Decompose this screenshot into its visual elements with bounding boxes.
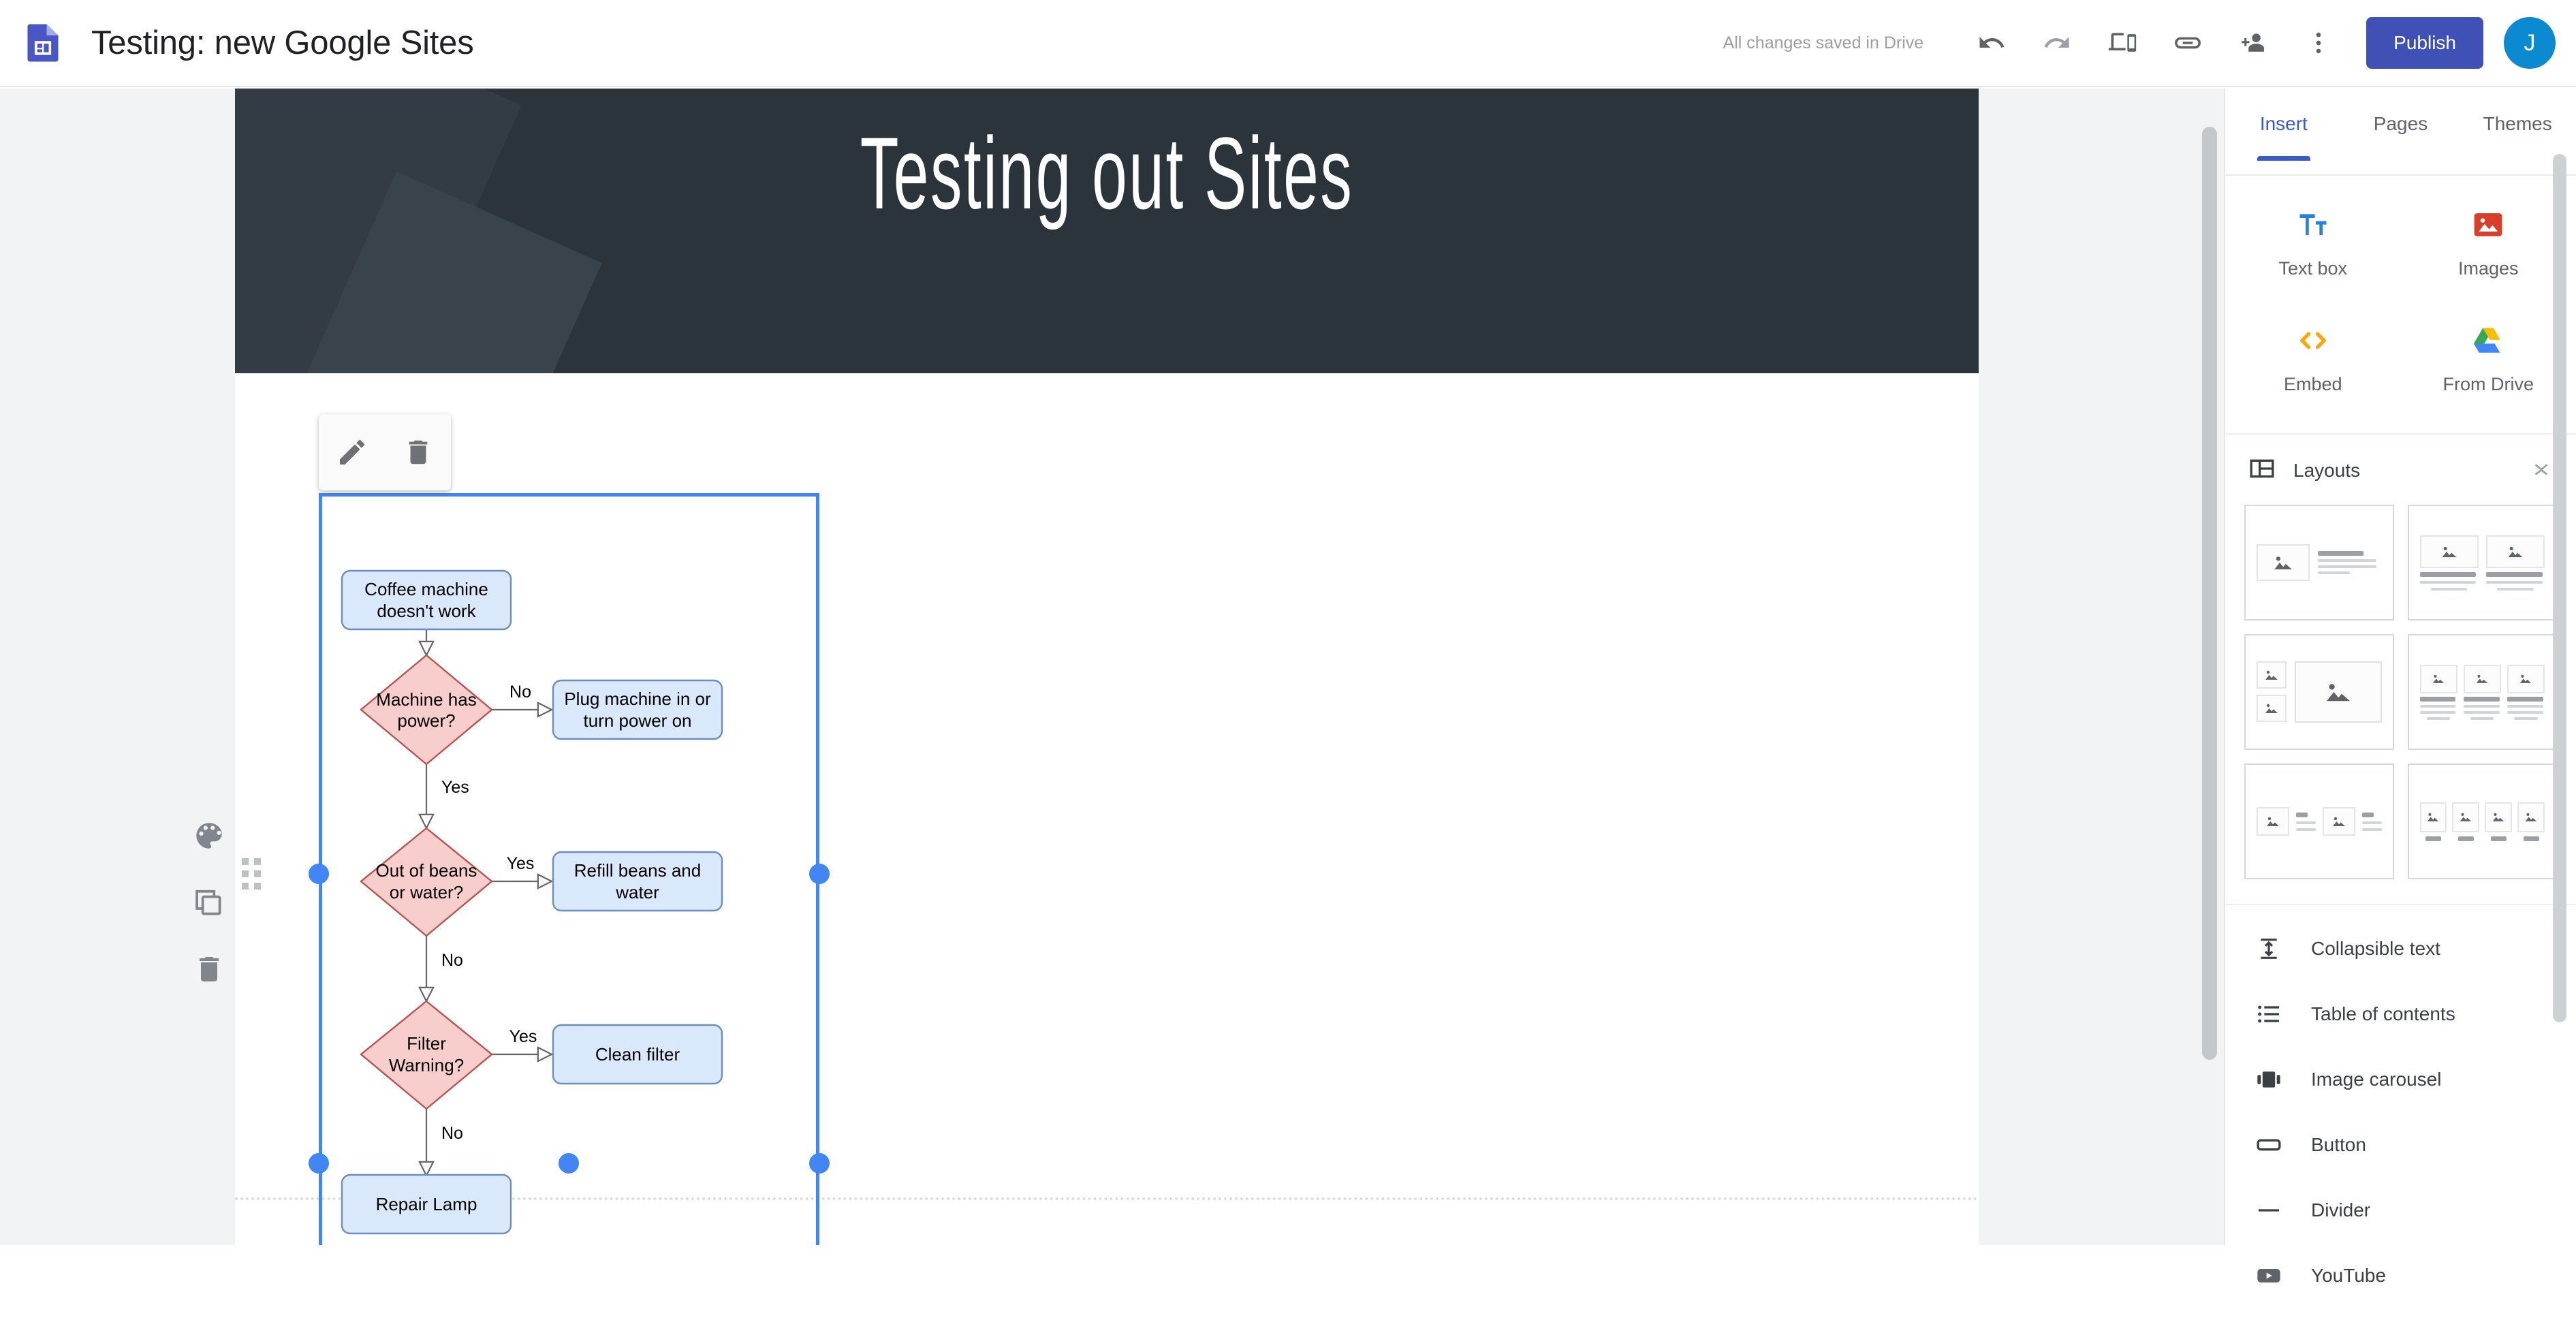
drag-handle-icon[interactable] [242, 858, 266, 896]
site-canvas: Testing out Sites [0, 89, 2224, 1245]
text-box-icon [2295, 207, 2331, 246]
svg-text:Repair Lamp: Repair Lamp [376, 1194, 477, 1214]
layouts-grid [2225, 498, 2576, 905]
publish-button[interactable]: Publish [2366, 17, 2483, 69]
edge-label-yes: Yes [441, 778, 469, 797]
insert-table-of-contents-label: Table of contents [2311, 1003, 2455, 1025]
google-sites-icon[interactable] [20, 20, 65, 65]
svg-text:Clean filter: Clean filter [595, 1044, 680, 1065]
insert-from-drive[interactable]: From Drive [2401, 315, 2576, 403]
flow-node-refill: Refill beans and water [553, 852, 722, 911]
layouts-title: Layouts [2293, 460, 2512, 482]
insert-images-label: Images [2458, 258, 2519, 279]
section-tools [185, 814, 233, 991]
svg-text:water: water [615, 882, 659, 902]
svg-text:Refill beans and: Refill beans and [574, 860, 701, 881]
flow-node-filter: Filter Warning? [361, 1001, 492, 1109]
insert-youtube-label: YouTube [2311, 1265, 2386, 1287]
canvas-scrollbar[interactable] [2202, 127, 2217, 1060]
resize-handle-bottomright[interactable] [809, 1153, 830, 1174]
svg-text:or water?: or water? [390, 882, 463, 902]
tab-pages[interactable]: Pages [2342, 113, 2460, 159]
insert-youtube[interactable]: YouTube [2225, 1243, 2576, 1308]
insert-collapsible-text-label: Collapsible text [2311, 938, 2440, 960]
edge-label-no: No [441, 1124, 463, 1143]
layout-option-image-text[interactable] [2244, 505, 2394, 620]
layout-option-two-small-one-large[interactable] [2244, 634, 2394, 750]
save-status: All changes saved in Drive [1723, 33, 1924, 53]
sidebar-tabs: Insert Pages Themes [2225, 89, 2576, 176]
collapsible-text-icon [2252, 935, 2285, 962]
tab-insert[interactable]: Insert [2225, 113, 2342, 159]
page-banner[interactable]: Testing out Sites [235, 89, 1979, 373]
svg-text:Warning?: Warning? [389, 1055, 464, 1075]
trash-icon[interactable] [396, 430, 440, 474]
topbar-actions: All changes saved in Drive [1723, 0, 2576, 86]
insert-text-box-label: Text box [2278, 258, 2347, 279]
svg-text:Plug machine in or: Plug machine in or [564, 689, 711, 709]
button-icon [2252, 1131, 2285, 1159]
insert-sidebar: Insert Pages Themes Text box Images [2224, 89, 2576, 1245]
flow-node-beans: Out of beans or water? [361, 828, 492, 936]
flow-node-power: Machine has power? [361, 655, 492, 764]
tab-themes[interactable]: Themes [2459, 113, 2576, 159]
insert-embed[interactable]: Embed [2225, 315, 2401, 403]
resize-handle-bottomleft[interactable] [309, 1153, 329, 1174]
svg-text:doesn't work: doesn't work [377, 601, 476, 621]
flow-node-plug: Plug machine in or turn power on [553, 680, 722, 739]
duplicate-icon[interactable] [187, 881, 231, 924]
insert-button[interactable]: Button [2225, 1112, 2576, 1178]
chevron-collapse-icon[interactable] [2530, 457, 2553, 484]
layouts-icon [2248, 455, 2276, 486]
link-icon[interactable] [2155, 10, 2220, 76]
undo-icon[interactable] [1959, 10, 2024, 76]
add-person-icon[interactable] [2220, 10, 2286, 76]
insert-table-of-contents[interactable]: Table of contents [2225, 981, 2576, 1047]
insert-image-carousel-label: Image carousel [2311, 1069, 2441, 1090]
flow-node-start: Coffee machine doesn't work [342, 571, 511, 629]
insert-divider-label: Divider [2311, 1199, 2370, 1221]
google-drive-icon [2470, 323, 2506, 362]
insert-images[interactable]: Images [2401, 199, 2576, 287]
embed-code-icon [2295, 323, 2331, 362]
divider-icon [2252, 1197, 2285, 1224]
resize-handle-bottom[interactable] [559, 1153, 579, 1174]
layout-option-two-inline-text[interactable] [2244, 764, 2394, 879]
table-of-contents-icon [2252, 1001, 2285, 1028]
insert-from-drive-label: From Drive [2443, 374, 2534, 395]
insert-components-list: Collapsible text Table of contents I [2225, 905, 2576, 1322]
svg-text:Machine has: Machine has [376, 689, 476, 710]
redo-icon[interactable] [2024, 10, 2090, 76]
resize-handle-right[interactable] [809, 864, 830, 884]
layout-option-four-thumbnails[interactable] [2408, 764, 2558, 879]
flow-node-repair: Repair Lamp [342, 1175, 511, 1233]
insert-quick-actions: Text box Images Embed [2225, 176, 2576, 435]
document-title[interactable]: Testing: new Google Sites [91, 24, 474, 62]
avatar[interactable]: J [2504, 17, 2556, 69]
svg-text:Coffee machine: Coffee machine [364, 579, 488, 599]
more-vertical-icon[interactable] [2286, 10, 2351, 76]
edge-label-no: No [441, 951, 463, 970]
insert-text-box[interactable]: Text box [2225, 199, 2401, 287]
layout-option-two-image-text[interactable] [2408, 505, 2558, 620]
edge-label-yes: Yes [507, 854, 535, 873]
insert-embed-label: Embed [2284, 374, 2342, 395]
layout-option-three-image-text[interactable] [2408, 634, 2558, 750]
svg-text:turn power on: turn power on [584, 710, 692, 731]
layouts-header: Layouts [2225, 435, 2576, 498]
edge-label-yes: Yes [509, 1027, 537, 1046]
top-app-bar: Testing: new Google Sites All changes sa… [0, 0, 2576, 87]
sidebar-scrollbar[interactable] [2553, 154, 2566, 1022]
insert-divider[interactable]: Divider [2225, 1178, 2576, 1243]
image-carousel-icon [2252, 1066, 2285, 1093]
coffee-troubleshooting-flowchart[interactable]: No Yes Yes No Yes No Coffee machine does… [319, 493, 819, 1245]
image-hover-toolbar [319, 414, 451, 490]
palette-icon[interactable] [187, 814, 231, 857]
youtube-icon [2252, 1262, 2285, 1289]
svg-text:Filter: Filter [407, 1033, 446, 1054]
insert-collapsible-text[interactable]: Collapsible text [2225, 916, 2576, 981]
insert-button-label: Button [2311, 1134, 2366, 1156]
flow-node-clean: Clean filter [553, 1025, 722, 1084]
trash-icon[interactable] [187, 947, 231, 991]
banner-title[interactable]: Testing out Sites [566, 89, 1647, 373]
pencil-icon[interactable] [330, 430, 374, 474]
images-icon [2470, 207, 2506, 246]
svg-text:power?: power? [397, 710, 455, 731]
insert-image-carousel[interactable]: Image carousel [2225, 1047, 2576, 1112]
resize-handle-left[interactable] [309, 864, 329, 884]
edge-label-no: No [509, 682, 531, 702]
preview-device-icon[interactable] [2090, 10, 2155, 76]
svg-text:Out of beans: Out of beans [376, 860, 477, 881]
